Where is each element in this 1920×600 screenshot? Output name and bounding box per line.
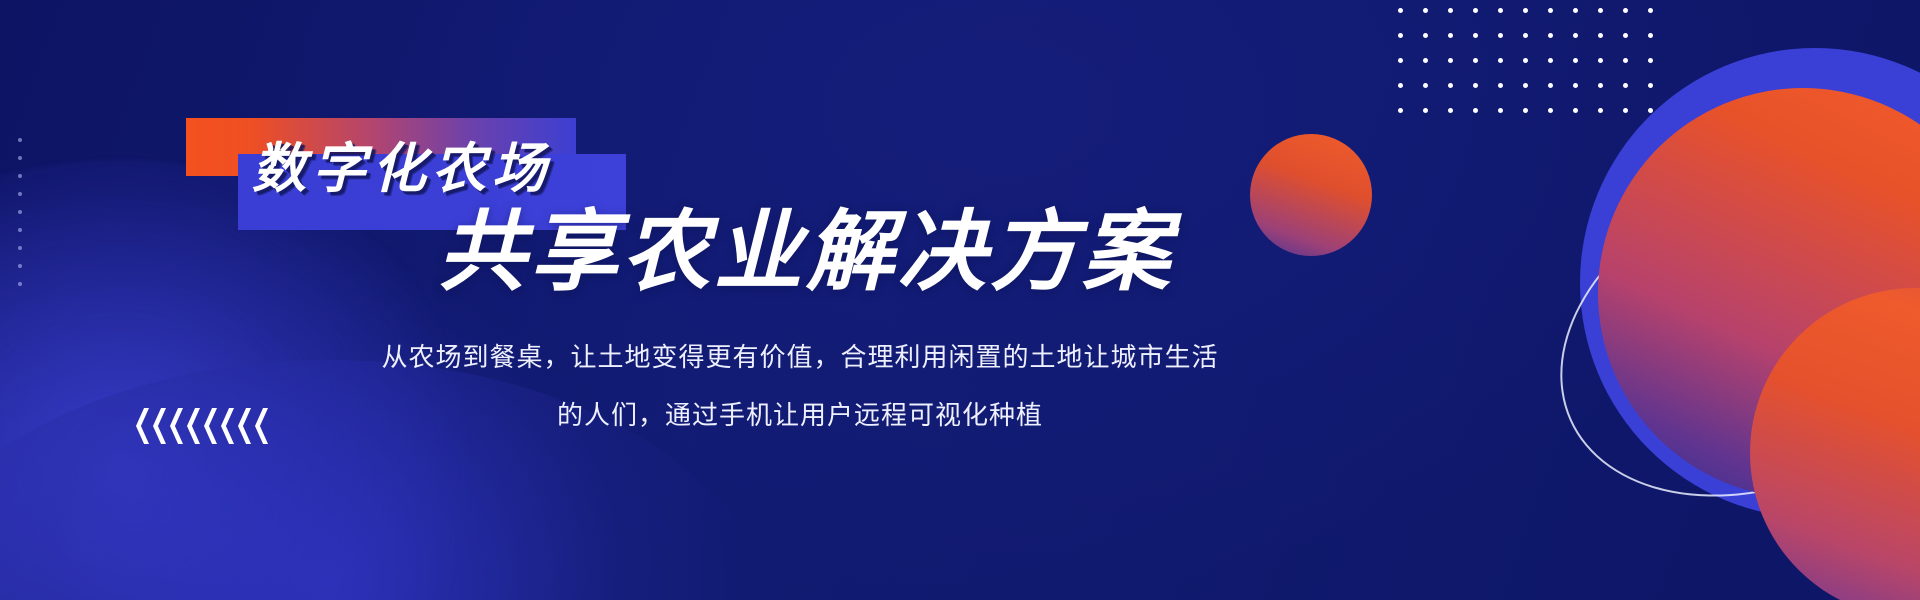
grid-dot — [1473, 8, 1478, 13]
hero-banner: 数字化农场 共享农业解决方案 从农场到餐桌，让土地变得更有价值，合理利用闲置的土… — [0, 0, 1920, 600]
grid-dot — [1448, 83, 1453, 88]
column-dot — [18, 246, 22, 250]
subtitle-line-2: 的人们，通过手机让用户远程可视化种植 — [300, 386, 1300, 444]
page-title: 共享农业解决方案 — [438, 206, 1174, 298]
grid-dot — [1498, 108, 1503, 113]
column-dot — [18, 282, 22, 286]
grid-dot — [1598, 58, 1603, 63]
grid-dot — [1448, 8, 1453, 13]
grid-dot — [1473, 33, 1478, 38]
grid-dot — [1573, 83, 1578, 88]
chevron-left-icon — [204, 408, 217, 444]
grid-dot — [1648, 83, 1653, 88]
grid-dot — [1573, 108, 1578, 113]
grid-dot — [1523, 8, 1528, 13]
chevron-left-icon — [221, 408, 234, 444]
grid-dot — [1473, 58, 1478, 63]
grid-dot — [1398, 58, 1403, 63]
grid-dot — [1548, 33, 1553, 38]
grid-dot — [1573, 58, 1578, 63]
column-dot — [18, 174, 22, 178]
grid-dot — [1398, 83, 1403, 88]
grid-dot — [1598, 83, 1603, 88]
grid-dot — [1623, 83, 1628, 88]
grid-dot — [1573, 8, 1578, 13]
grid-dot — [1523, 83, 1528, 88]
column-dot — [18, 210, 22, 214]
grid-dot — [1448, 58, 1453, 63]
grid-dot — [1648, 108, 1653, 113]
grid-dot — [1548, 108, 1553, 113]
grid-dot — [1573, 33, 1578, 38]
grid-dot — [1448, 108, 1453, 113]
grid-dot — [1398, 33, 1403, 38]
chevron-left-icon — [153, 408, 166, 444]
grid-dot — [1598, 108, 1603, 113]
chevron-left-icon — [170, 408, 183, 444]
grid-dot — [1448, 33, 1453, 38]
grid-dot — [1548, 83, 1553, 88]
chevron-left-icon — [136, 408, 149, 444]
grid-dot — [1398, 8, 1403, 13]
left-dot-column-decoration — [18, 138, 24, 288]
chevron-left-icon — [187, 408, 200, 444]
grid-dot — [1423, 8, 1428, 13]
chevron-left-icon — [255, 408, 268, 444]
dot-grid-decoration — [1398, 8, 1666, 120]
grid-dot — [1623, 33, 1628, 38]
column-dot — [18, 264, 22, 268]
grid-dot — [1523, 58, 1528, 63]
grid-dot — [1473, 83, 1478, 88]
grid-dot — [1523, 108, 1528, 113]
grid-dot — [1398, 108, 1403, 113]
small-planet-circle — [1250, 134, 1372, 256]
column-dot — [18, 156, 22, 160]
grid-dot — [1498, 8, 1503, 13]
column-dot — [18, 228, 22, 232]
grid-dot — [1473, 108, 1478, 113]
grid-dot — [1623, 58, 1628, 63]
grid-dot — [1423, 83, 1428, 88]
subtitle-block: 从农场到餐桌，让土地变得更有价值，合理利用闲置的土地让城市生活 的人们，通过手机… — [300, 328, 1300, 444]
grid-dot — [1423, 33, 1428, 38]
chevron-left-arrows-icon — [136, 408, 268, 444]
chevron-left-icon — [238, 408, 251, 444]
grid-dot — [1648, 8, 1653, 13]
grid-dot — [1423, 108, 1428, 113]
grid-dot — [1648, 33, 1653, 38]
column-dot — [18, 192, 22, 196]
grid-dot — [1498, 83, 1503, 88]
grid-dot — [1548, 58, 1553, 63]
grid-dot — [1498, 58, 1503, 63]
grid-dot — [1623, 8, 1628, 13]
grid-dot — [1623, 108, 1628, 113]
grid-dot — [1523, 33, 1528, 38]
subtitle-line-1: 从农场到餐桌，让土地变得更有价值，合理利用闲置的土地让城市生活 — [300, 328, 1300, 386]
tag-label: 数字化农场 — [252, 142, 552, 196]
grid-dot — [1548, 8, 1553, 13]
column-dot — [18, 138, 22, 142]
grid-dot — [1498, 33, 1503, 38]
grid-dot — [1598, 33, 1603, 38]
grid-dot — [1598, 8, 1603, 13]
grid-dot — [1648, 58, 1653, 63]
grid-dot — [1423, 58, 1428, 63]
